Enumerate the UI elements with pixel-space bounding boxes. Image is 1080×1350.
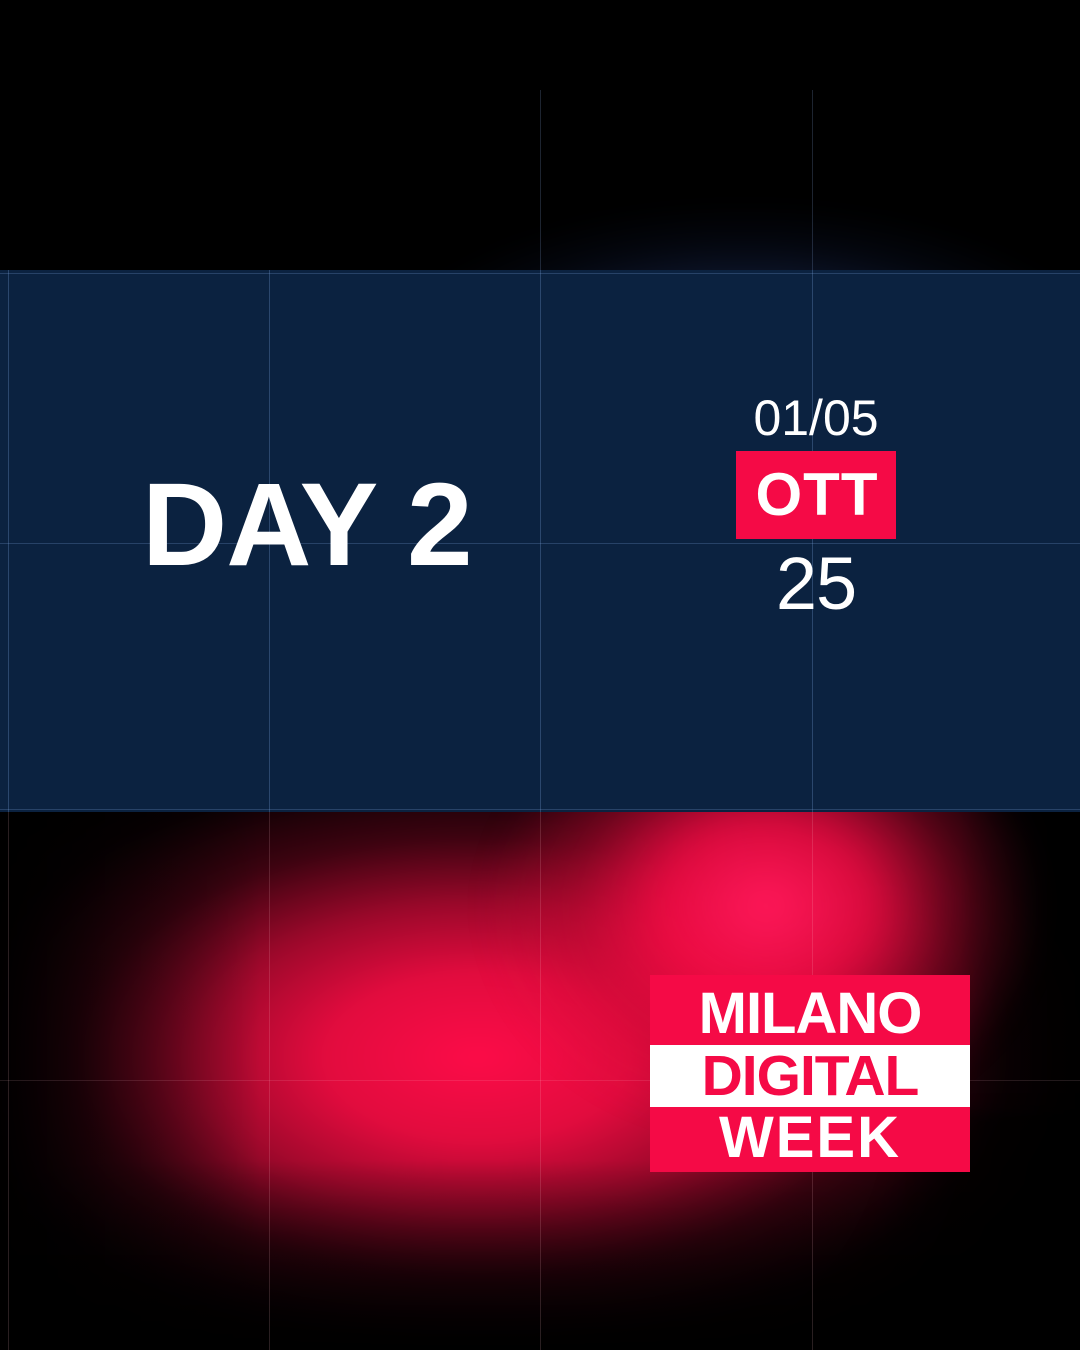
milano-digital-week-logo: MILANO DIGITAL WEEK	[650, 975, 970, 1172]
blue-glow-core	[440, 150, 1000, 272]
grid-line-vertical-b2	[269, 812, 270, 1350]
logo-line-milano: MILANO	[650, 975, 970, 1045]
poster-canvas: DAY 2 01/05 OTT 25 MILANO DIGITAL WEEK	[0, 0, 1080, 1350]
logo-line-digital: DIGITAL	[650, 1045, 970, 1107]
grid-line-vertical-b3	[540, 812, 541, 1350]
grid-line-vertical-3	[540, 270, 541, 813]
top-black-band	[0, 0, 1080, 272]
logo-line-week: WEEK	[650, 1107, 970, 1172]
date-block: 01/05 OTT 25	[700, 392, 932, 623]
grid-line-vertical-top-1	[540, 90, 541, 272]
date-year-label: 25	[700, 545, 932, 623]
page-title: DAY 2	[142, 466, 472, 584]
date-day-label: 01/05	[700, 392, 932, 445]
date-month-badge: OTT	[736, 451, 897, 539]
grid-line-vertical-b1	[8, 812, 9, 1350]
grid-line-vertical-top-2	[812, 90, 813, 272]
date-month-wrapper: OTT	[700, 451, 932, 539]
grid-line-vertical-1	[8, 270, 9, 813]
